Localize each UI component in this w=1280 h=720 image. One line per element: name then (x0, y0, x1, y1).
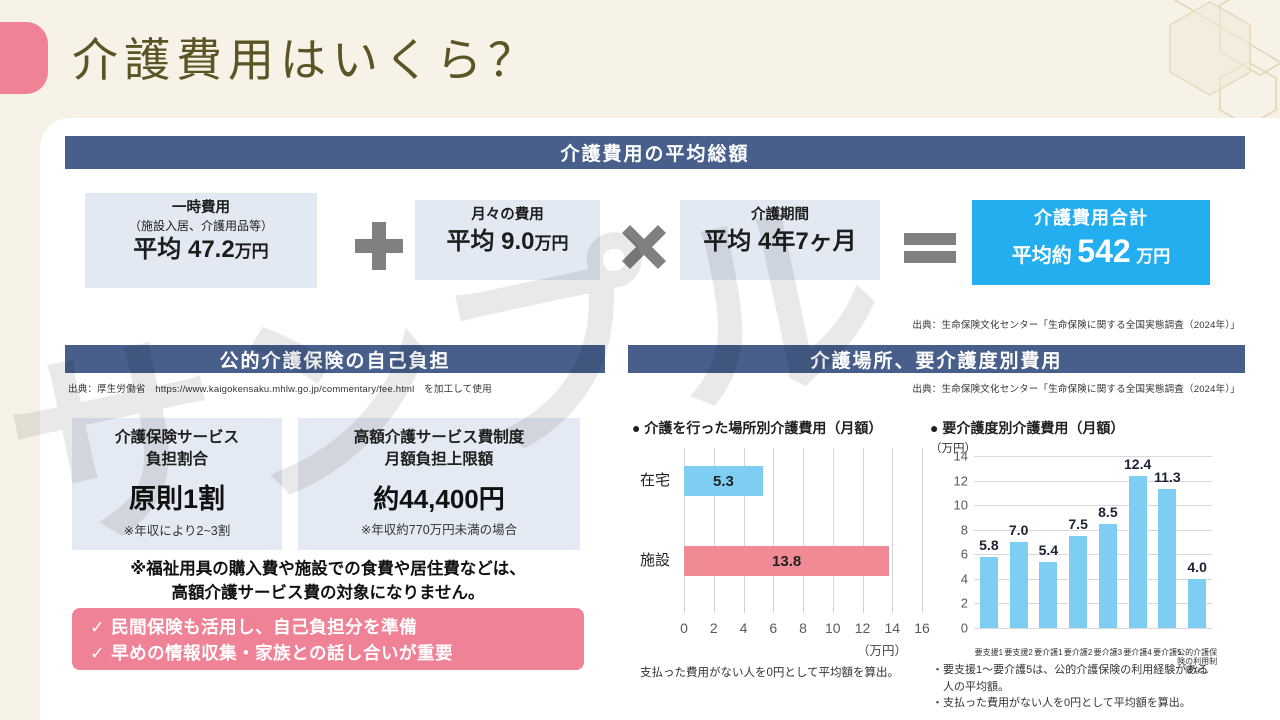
bar-value-label: 8.5 (1098, 504, 1117, 520)
y-tick-label: 14 (954, 449, 968, 464)
takeaway-text: 早めの情報収集・家族との話し合いが重要 (111, 643, 453, 663)
source-note-top: 出典：生命保険文化センター「生命保険に関する全国実態調査（2024年）」 (912, 317, 1240, 331)
y-tick-label: 0 (961, 621, 968, 636)
cost-box-total: 介護費用合計 平均約 542 万円 (972, 200, 1210, 285)
chart-bar (1129, 476, 1147, 628)
chart-bar (1010, 542, 1028, 628)
chart-footnotes: ・要支援1〜要介護5は、公的介護保険の利用経験がある 人の平均額。・支払った費用… (932, 662, 1208, 712)
check-icon: ✓ (90, 617, 105, 637)
bar-value-label: 12.4 (1124, 456, 1151, 472)
chart-by-place: 在宅5.3施設13.8 0246810121416 （万円） 支払った費用がない… (632, 448, 922, 698)
y-tick-label: 4 (961, 571, 968, 586)
bar-category-label: 在宅 (632, 469, 678, 490)
chart-footnote: 支払った費用がない人を0円として平均額を算出。 (640, 664, 899, 680)
monthly-value: 平均 9.0万円 (415, 227, 600, 257)
bar-value-label: 5.8 (979, 537, 998, 553)
x-tick-label: 14 (884, 620, 900, 636)
chart-x-axis-labels: 0246810121416 (684, 620, 922, 638)
bar-value: 13.8 (684, 546, 889, 576)
monthly-cap-title: 高額介護サービス費制度 月額負担上限額 (298, 427, 580, 472)
check-icon: ✓ (90, 643, 105, 663)
takeaway-row: ✓民間保険も活用し、自己負担分を準備 (90, 614, 584, 640)
source-note-right: 出典：生命保険文化センター「生命保険に関する全国実態調査（2024年）」 (912, 381, 1240, 395)
title-accent-tab (0, 22, 48, 94)
gridline (974, 628, 1212, 629)
total-value: 平均約 542 万円 (972, 231, 1210, 271)
chart-bar-row: 在宅5.3 (632, 466, 922, 496)
chart-footnote-line: 人の平均額。 (932, 679, 1208, 696)
chart-bar (1188, 579, 1206, 628)
bar-value-label: 7.5 (1068, 516, 1087, 532)
chart-bar (1099, 524, 1117, 628)
bar-value-label: 7.0 (1009, 522, 1028, 538)
x-tick-label: 0 (680, 620, 688, 636)
period-value: 平均 4年7ヶ月 (680, 227, 880, 257)
gridline (922, 448, 923, 613)
cost-box-one-time: 一時費用 （施設入居、介護用品等） 平均 47.2万円 (85, 193, 317, 288)
exclusion-note: ※福祉用具の購入費や施設での食費や居住費などは、 高額介護サービス費の対象になり… (72, 558, 584, 606)
takeaway-text: 民間保険も活用し、自己負担分を準備 (111, 617, 417, 637)
y-tick-label: 6 (961, 547, 968, 562)
source-note-left: 出典：厚生労働省 https://www.kaigokensaku.mhlw.g… (68, 381, 492, 395)
bar-value: 5.3 (684, 466, 763, 496)
bar-value-label: 4.0 (1187, 559, 1206, 575)
x-tick-label: 10 (825, 620, 841, 636)
gridline (974, 456, 1212, 457)
chart-title-by-place: ● 介護を行った場所別介護費用（月額） (632, 418, 882, 438)
section-header-total-cost: 介護費用の平均総額 (65, 136, 1245, 169)
x-tick-label: 16 (914, 620, 930, 636)
plus-icon (351, 218, 407, 274)
x-tick-label: 4 (740, 620, 748, 636)
slide-header: 介護費用はいくら？ (0, 0, 1280, 118)
chart-bar (1069, 536, 1087, 628)
chart-bar-row: 施設13.8 (632, 546, 922, 576)
y-tick-label: 10 (954, 498, 968, 513)
chart-title-by-level: ● 要介護度別介護費用（月額） (930, 418, 1124, 438)
info-box-copay-ratio: 介護保険サービス 負担割合 原則1割 ※年収により2~3割 (72, 418, 282, 550)
chart-bar (1158, 489, 1176, 628)
hexagon-decoration-icon (1080, 0, 1280, 125)
x-tick-label: 6 (769, 620, 777, 636)
period-label: 介護期間 (680, 206, 880, 226)
one-time-label: 一時費用 (85, 199, 317, 219)
copay-ratio-title: 介護保険サービス 負担割合 (72, 427, 282, 472)
equals-icon (902, 228, 958, 268)
total-label: 介護費用合計 (972, 206, 1210, 230)
chart-unit-label: （万円） (857, 640, 907, 659)
chart-bar (1039, 562, 1057, 628)
y-tick-label: 2 (961, 596, 968, 611)
copay-ratio-note: ※年収により2~3割 (72, 520, 282, 539)
y-tick-label: 12 (954, 473, 968, 488)
section-header-place-and-level: 介護場所、要介護度別費用 (628, 345, 1245, 373)
monthly-cap-note: ※年収約770万円未満の場合 (298, 519, 580, 538)
page-title: 介護費用はいくら？ (72, 24, 540, 90)
chart-footnote-line: ・要支援1〜要介護5は、公的介護保険の利用経験がある (932, 662, 1208, 679)
chart-footnote-line: ・支払った費用がない人を0円として平均額を算出。 (932, 695, 1208, 712)
one-time-sublabel: （施設入居、介護用品等） (85, 219, 317, 235)
key-takeaways-callout: ✓民間保険も活用し、自己負担分を準備 ✓早めの情報収集・家族との話し合いが重要 (72, 608, 584, 670)
bar-category-label: 施設 (632, 549, 678, 570)
chart-plot-area: 024681012145.8要支援17.0要支援25.4要介護17.5要介護28… (974, 456, 1212, 628)
one-time-value: 平均 47.2万円 (85, 235, 317, 265)
x-tick-label: 12 (855, 620, 871, 636)
monthly-label: 月々の費用 (415, 206, 600, 226)
x-tick-label: 8 (799, 620, 807, 636)
takeaway-row: ✓早めの情報収集・家族との話し合いが重要 (90, 640, 584, 666)
monthly-cap-value: 約44,400円 (298, 486, 580, 512)
cost-box-period: 介護期間 平均 4年7ヶ月 (680, 200, 880, 280)
bar-value-label: 11.3 (1154, 469, 1180, 485)
section-header-public-insurance: 公的介護保険の自己負担 (65, 345, 605, 373)
copay-ratio-value: 原則1割 (72, 486, 282, 513)
chart-bar (980, 557, 998, 628)
x-tick-label: 2 (710, 620, 718, 636)
chart-by-care-level: （万円） 024681012145.8要支援17.0要支援25.4要介護17.5… (930, 440, 1250, 700)
y-tick-label: 8 (961, 522, 968, 537)
times-icon (620, 223, 668, 271)
info-box-monthly-cap: 高額介護サービス費制度 月額負担上限額 約44,400円 ※年収約770万円未満… (298, 418, 580, 550)
cost-box-monthly: 月々の費用 平均 9.0万円 (415, 200, 600, 280)
bar-value-label: 5.4 (1039, 542, 1058, 558)
